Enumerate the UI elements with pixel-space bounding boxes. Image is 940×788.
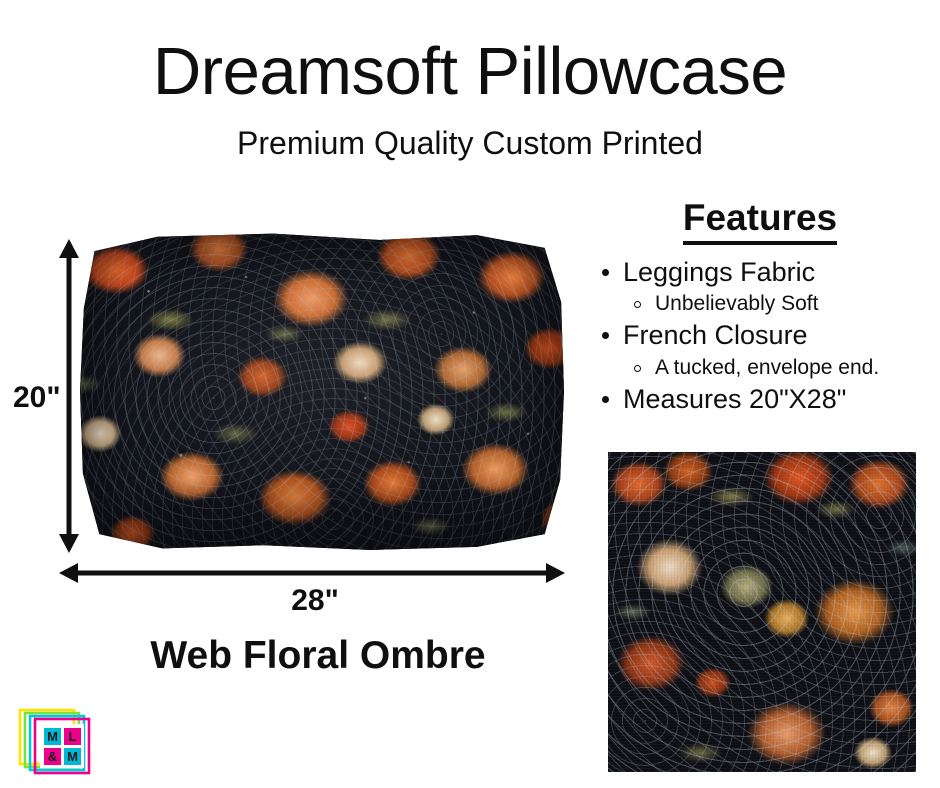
svg-text:M: M	[47, 729, 58, 744]
logo-icon: M L & M	[18, 700, 96, 778]
feature-subitem-text: Unbelievably Soft	[655, 292, 818, 315]
product-graphic: Dreamsoft Pillowcase Premium Quality Cus…	[0, 0, 940, 788]
pillowcase-image	[80, 232, 564, 550]
features-heading: Features	[592, 198, 928, 245]
brand-logo: M L & M	[18, 700, 96, 778]
fabric-swatch-image	[608, 452, 916, 772]
page-subtitle: Premium Quality Custom Printed	[0, 124, 940, 162]
width-dimension-label: 28"	[0, 586, 630, 616]
svg-text:M: M	[67, 749, 78, 764]
feature-label: Measures 20"X28"	[592, 382, 928, 418]
features-list: Leggings Fabric Unbelievably Soft French…	[592, 255, 928, 418]
feature-item: Measures 20"X28"	[592, 382, 928, 418]
feature-label-text: Measures 20"X28"	[623, 384, 846, 414]
circle-bullet-icon	[634, 365, 641, 372]
height-dimension-label: 20"	[13, 383, 61, 413]
pillow-body	[80, 232, 564, 550]
feature-item: French Closure A tucked, envelope end.	[592, 318, 928, 382]
svg-text:L: L	[69, 729, 77, 744]
feature-label: Leggings Fabric	[592, 255, 928, 291]
feature-label: French Closure	[592, 318, 928, 354]
features-heading-text: Features	[683, 198, 837, 245]
bullet-icon	[602, 396, 609, 403]
features-panel: Features Leggings Fabric Unbelievably So…	[592, 198, 928, 418]
swatch-weave-texture	[608, 452, 916, 772]
feature-label-text: Leggings Fabric	[623, 257, 815, 287]
feature-label-text: French Closure	[623, 320, 808, 350]
bullet-icon	[602, 332, 609, 339]
circle-bullet-icon	[634, 301, 641, 308]
pillow-shading	[80, 232, 564, 550]
page-title: Dreamsoft Pillowcase	[0, 38, 940, 105]
feature-subitem: A tucked, envelope end.	[592, 354, 928, 382]
bullet-icon	[602, 269, 609, 276]
pattern-name: Web Floral Ombre	[0, 636, 636, 675]
feature-subitem: Unbelievably Soft	[592, 290, 928, 318]
feature-subitem-text: A tucked, envelope end.	[655, 356, 879, 379]
svg-text:&: &	[48, 749, 57, 764]
feature-item: Leggings Fabric Unbelievably Soft	[592, 255, 928, 319]
